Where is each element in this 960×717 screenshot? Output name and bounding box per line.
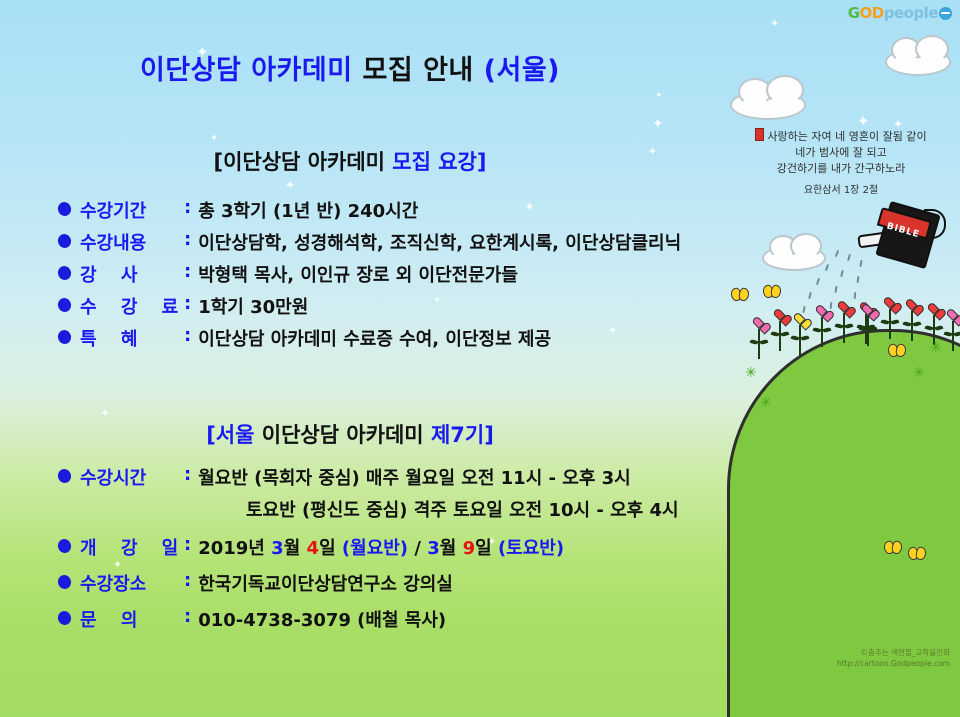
watering-can-spout xyxy=(857,231,894,249)
bullet-icon xyxy=(56,264,73,281)
start-month-1: 3 xyxy=(271,538,284,559)
program-detail-list: 수강기간 : 총 3학기 (1년 반) 240시간 수강내용 : 이단상담학, … xyxy=(58,197,681,357)
section2-head-blue-2: 제7기] xyxy=(431,423,494,447)
row-label: 문 의 xyxy=(80,606,184,632)
row-value: 1학기 30만원 xyxy=(198,293,308,319)
verse-reference: 요한삼서 1장 2절 xyxy=(735,184,947,199)
row-colon: : xyxy=(184,325,191,346)
verse-line-3: 강건하기를 내가 간구하노라 xyxy=(735,161,947,177)
section2-head-black: 이단상담 아카데미 xyxy=(262,423,424,447)
row-label: 수강기간 xyxy=(80,197,184,223)
row-colon: : xyxy=(184,570,191,591)
bullet-icon xyxy=(56,573,73,590)
bible-cover xyxy=(877,207,932,240)
section1-head-blue: 모집 요강] xyxy=(392,150,486,174)
grass-tuft-icon: ✳ xyxy=(760,395,772,411)
row-colon: : xyxy=(184,293,191,314)
row-value: 이단상담학, 성경해석학, 조직신학, 요한계시록, 이단상담클리닉 xyxy=(198,229,681,255)
row-value: 박형택 목사, 이인규 장로 외 이단전문가들 xyxy=(198,261,518,287)
row-value: 토요반 (평신도 중심) 격주 토요일 오전 10시 - 오후 4시 xyxy=(246,496,679,522)
copyright-line-1: ©춤추는 색연필_고학을만화 xyxy=(837,647,950,658)
start-day-suffix-2: 일 xyxy=(475,538,492,559)
grass-tuft-icon: ✳ xyxy=(930,340,942,356)
flower-head xyxy=(884,298,896,309)
logo-letter-g: G xyxy=(848,4,860,22)
grass-tuft-icon: ✳ xyxy=(913,365,925,381)
verse-line-2: 네가 범사에 잘 되고 xyxy=(735,145,947,161)
start-day-2: 9 xyxy=(463,538,476,559)
start-month-suffix-2: 월 xyxy=(440,538,457,559)
list-item: 수강시간 : 월요반 (목회자 중심) 매주 월요일 오전 11시 - 오후 3… xyxy=(58,464,679,490)
flower-head xyxy=(928,304,940,315)
bible-body xyxy=(875,201,940,269)
row-label: 수 강 료 xyxy=(80,293,184,319)
row-label: 특 혜 xyxy=(80,325,184,351)
row-value: 월요반 (목회자 중심) 매주 월요일 오전 11시 - 오후 3시 xyxy=(198,464,631,490)
row-value: 010-4738-3079 (배철 목사) xyxy=(198,606,446,632)
list-item: 개 강 일 : 2019년 3월 4일 (월요반) / 3월 9일 (토요반) xyxy=(58,534,679,560)
bullet-icon xyxy=(56,609,73,626)
row-value: 한국기독교이단상담연구소 강의실 xyxy=(198,570,453,596)
title-part-1: 이단상담 아카데미 xyxy=(140,55,353,86)
row-colon: : xyxy=(184,606,191,627)
butterfly-icon xyxy=(884,541,902,553)
star-icon: ✦ xyxy=(893,118,903,130)
flower-head xyxy=(774,310,786,321)
bullet-icon xyxy=(56,232,73,249)
row-label: 수강내용 xyxy=(80,229,184,255)
indent-spacer xyxy=(58,496,246,522)
star-icon: ✦ xyxy=(285,179,295,191)
star-icon: ✦ xyxy=(100,407,110,419)
logo-word-people: people xyxy=(884,4,938,22)
page-title: 이단상담 아카데미 모집 안내 (서울) xyxy=(0,48,700,87)
cloud-icon xyxy=(885,48,951,76)
list-item: 수강기간 : 총 3학기 (1년 반) 240시간 xyxy=(58,197,681,223)
star-icon: ✦ xyxy=(652,117,664,131)
flower-head xyxy=(794,314,806,325)
list-item: 문 의 : 010-4738-3079 (배철 목사) xyxy=(58,606,679,632)
flower-head xyxy=(816,306,828,317)
row-value: 총 3학기 (1년 반) 240시간 xyxy=(198,197,418,223)
butterfly-icon xyxy=(888,344,906,356)
row-label: 수강시간 xyxy=(80,464,184,490)
bible-label: BIBLE xyxy=(885,221,928,242)
bullet-icon xyxy=(56,537,73,554)
bullet-icon xyxy=(56,328,73,345)
flower-head xyxy=(862,305,874,316)
poster-canvas: ✦ ✦ ✦ ✦ ✦ ✦ ✦ ✦ ✦ ✦ ✦ ✦ ✦ ✦ ✦ GODpeople … xyxy=(0,0,960,717)
start-month-2: 3 xyxy=(427,538,440,559)
bible-watering-can-icon: BIBLE xyxy=(866,203,952,273)
row-colon: : xyxy=(184,197,191,218)
verse-badge-icon xyxy=(755,128,764,141)
list-item: 특 혜 : 이단상담 아카데미 수료증 수여, 이단정보 제공 xyxy=(58,325,681,351)
verse-line-1-text: 사랑하는 자여 네 영혼이 잘됨 같이 xyxy=(767,130,926,143)
start-class-2: (토요반) xyxy=(498,538,564,559)
star-icon: ✦ xyxy=(655,92,663,101)
start-month-suffix-1: 월 xyxy=(284,538,301,559)
list-item: 강 사 : 박형택 목사, 이인규 장로 외 이단전문가들 xyxy=(58,261,681,287)
godpeople-mark-icon xyxy=(939,7,952,20)
row-value: 이단상담 아카데미 수료증 수여, 이단정보 제공 xyxy=(198,325,551,351)
butterfly-icon xyxy=(731,288,749,300)
flower-head xyxy=(906,300,918,311)
bullet-icon xyxy=(56,200,73,217)
start-day-suffix-1: 일 xyxy=(319,538,336,559)
watering-can-handle xyxy=(924,209,946,239)
butterfly-icon xyxy=(763,285,781,297)
row-value: 2019년 3월 4일 (월요반) / 3월 9일 (토요반) xyxy=(198,534,564,560)
butterfly-icon xyxy=(908,547,926,559)
flower-head xyxy=(838,302,850,313)
logo-letter-od: OD xyxy=(860,4,884,22)
flower-head xyxy=(860,303,872,314)
bible-verse: 사랑하는 자여 네 영혼이 잘됨 같이 네가 범사에 잘 되고 강건하기를 내가… xyxy=(735,128,947,198)
row-label: 수강장소 xyxy=(80,570,184,596)
grass-tuft-icon: ✳ xyxy=(745,365,757,381)
start-class-1: (월요반) xyxy=(342,538,408,559)
bullet-icon xyxy=(56,467,73,484)
cohort-detail-list: 수강시간 : 월요반 (목회자 중심) 매주 월요일 오전 11시 - 오후 3… xyxy=(58,464,679,638)
copyright-url[interactable]: http://cartoon.Godpeople.com xyxy=(837,658,950,669)
section2-head-blue-1: [서울 xyxy=(206,423,254,447)
list-item: 수강장소 : 한국기독교이단상담연구소 강의실 xyxy=(58,570,679,596)
section-heading-cohort: [서울 이단상담 아카데미 제7기] xyxy=(0,419,700,449)
bullet-icon xyxy=(56,296,73,313)
star-icon: ✦ xyxy=(770,18,779,29)
cloud-icon xyxy=(730,90,806,120)
star-icon: ✦ xyxy=(210,134,218,144)
row-colon: : xyxy=(184,261,191,282)
flower-head xyxy=(947,310,959,321)
section-heading-program: [이단상담 아카데미 모집 요강] xyxy=(0,146,700,176)
flower-head xyxy=(753,318,765,329)
row-label: 강 사 xyxy=(80,261,184,287)
row-colon: : xyxy=(184,534,191,555)
title-part-2: 모집 안내 xyxy=(362,55,473,86)
list-item: 수강내용 : 이단상담학, 성경해석학, 조직신학, 요한계시록, 이단상담클리… xyxy=(58,229,681,255)
row-colon: : xyxy=(184,229,191,250)
title-part-3: (서울) xyxy=(484,55,560,86)
green-hill xyxy=(727,329,960,717)
list-item: 수 강 료 : 1학기 30만원 xyxy=(58,293,681,319)
star-icon: ✦ xyxy=(857,114,870,129)
start-separator: / xyxy=(414,538,421,559)
section1-head-black: [이단상담 아카데미 xyxy=(214,150,385,174)
list-item-continuation: 토요반 (평신도 중심) 격주 토요일 오전 10시 - 오후 4시 xyxy=(58,496,679,522)
godpeople-logo[interactable]: GODpeople xyxy=(848,4,952,22)
copyright-notice: ©춤추는 색연필_고학을만화 http://cartoon.Godpeople.… xyxy=(837,647,950,670)
start-day-1: 4 xyxy=(307,538,320,559)
cloud-icon xyxy=(762,245,826,271)
start-year: 2019년 xyxy=(198,538,265,559)
row-colon: : xyxy=(184,464,191,485)
verse-line-1: 사랑하는 자여 네 영혼이 잘됨 같이 xyxy=(735,128,947,145)
row-label: 개 강 일 xyxy=(80,534,184,560)
